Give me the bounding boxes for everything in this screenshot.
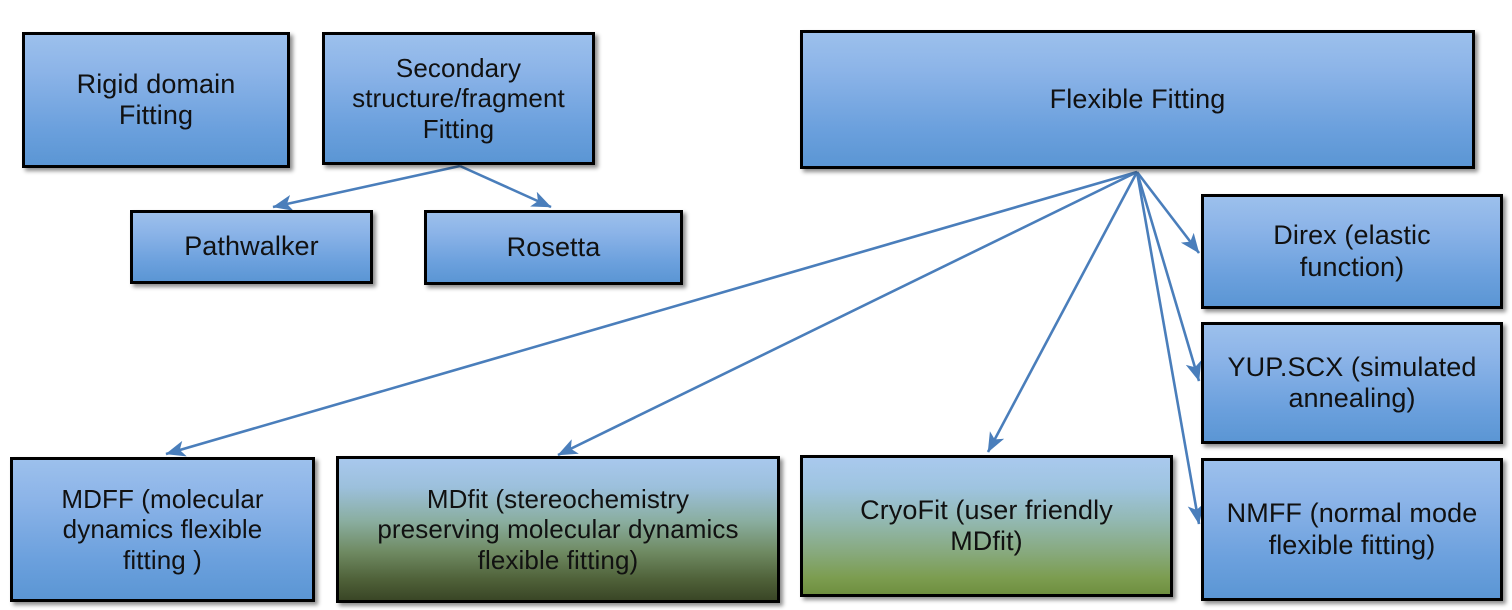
node-label: MDfit (stereochemistry preserving molecu…: [369, 484, 746, 574]
node-label: Rosetta: [499, 232, 609, 263]
node-label: Secondary structure/fragment Fitting: [344, 53, 573, 143]
node-rigid-domain-fitting[interactable]: Rigid domain Fitting: [22, 32, 290, 168]
node-pathwalker[interactable]: Pathwalker: [130, 210, 373, 284]
node-label: YUP.SCX (simulated annealing): [1220, 352, 1485, 415]
diagram-canvas: Rigid domain Fitting Secondary structure…: [0, 0, 1512, 610]
node-nmff[interactable]: NMFF (normal mode flexible fitting): [1201, 458, 1503, 601]
node-label: Direx (elastic function): [1265, 220, 1438, 283]
node-mdfit[interactable]: MDfit (stereochemistry preserving molecu…: [336, 456, 780, 603]
node-label: NMFF (normal mode flexible fitting): [1219, 498, 1486, 561]
node-label: MDFF (molecular dynamics flexible fittin…: [53, 484, 271, 574]
node-mdff[interactable]: MDFF (molecular dynamics flexible fittin…: [10, 457, 315, 602]
node-rosetta[interactable]: Rosetta: [424, 210, 683, 285]
node-label: CryoFit (user friendly MDfit): [852, 495, 1121, 558]
node-secondary-structure-fragment-fitting[interactable]: Secondary structure/fragment Fitting: [322, 32, 595, 165]
edge-flexible-to-cryofit: [988, 172, 1137, 452]
edge-flexible-to-direx: [1137, 172, 1199, 253]
edge-secondary-to-rosetta: [460, 166, 551, 207]
edge-secondary-to-pathwalker: [273, 166, 460, 207]
node-direx[interactable]: Direx (elastic function): [1201, 194, 1503, 309]
node-flexible-fitting[interactable]: Flexible Fitting: [800, 30, 1475, 169]
node-label: Flexible Fitting: [1042, 84, 1234, 115]
node-cryofit[interactable]: CryoFit (user friendly MDfit): [800, 455, 1173, 597]
node-label: Rigid domain Fitting: [69, 69, 244, 132]
node-label: Pathwalker: [176, 231, 327, 262]
edge-flexible-to-yupscx: [1137, 172, 1199, 381]
node-yup-scx[interactable]: YUP.SCX (simulated annealing): [1201, 322, 1503, 444]
